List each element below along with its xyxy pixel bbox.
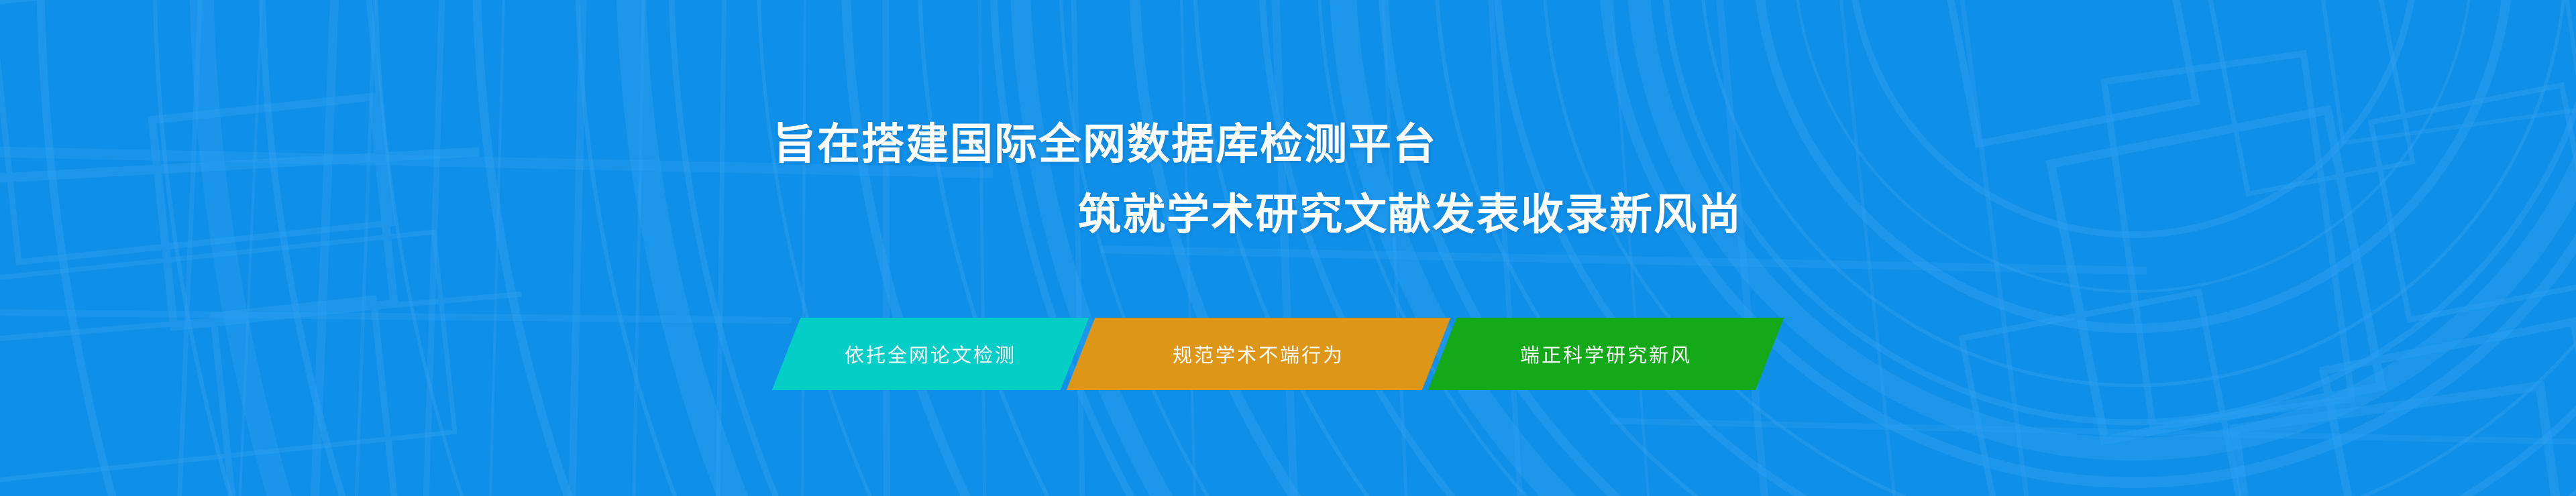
background-pattern-svg [0,0,2576,496]
tag-detection[interactable]: 依托全网论文检测 [772,318,1089,390]
tag-detection-label: 依托全网论文检测 [845,340,1016,368]
promo-banner: 旨在搭建国际全网数据库检测平台 筑就学术研究文献发表收录新风尚 依托全网论文检测… [0,0,2576,496]
tag-misconduct-label: 规范学术不端行为 [1173,340,1344,368]
feature-tag-band: 依托全网论文检测 规范学术不端行为 端正科学研究新风 [771,318,1818,393]
background-tech-pattern [0,0,2576,496]
tag-ethics[interactable]: 端正科学研究新风 [1428,318,1784,390]
tag-ethics-label: 端正科学研究新风 [1520,340,1692,368]
tag-misconduct[interactable]: 规范学术不端行为 [1067,318,1451,390]
